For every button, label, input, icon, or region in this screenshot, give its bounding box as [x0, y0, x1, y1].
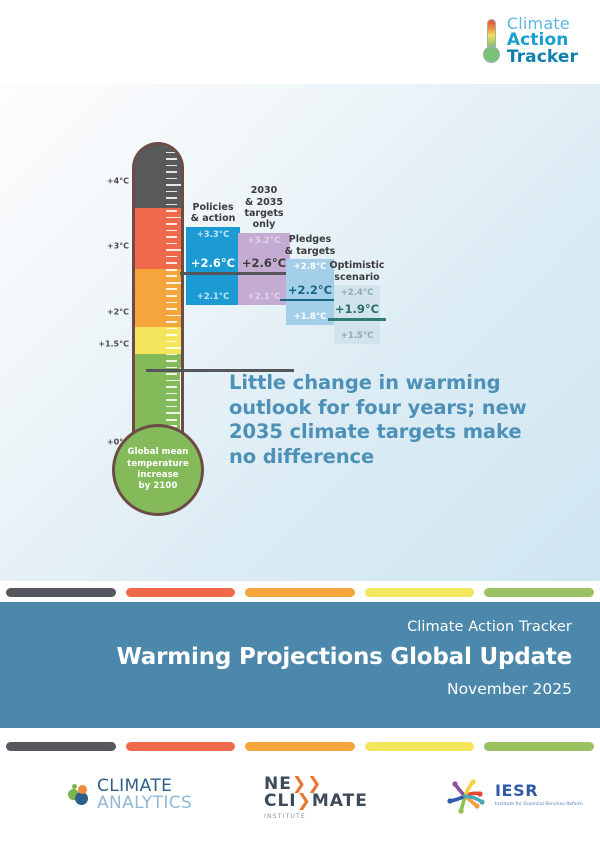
iesr-subtitle: Institute for Essential Services Reform [495, 802, 583, 809]
stripe-segment [6, 588, 116, 597]
stripe-segment [484, 588, 594, 597]
thermometer-bulb: Global meantemperatureincreaseby 2100 [112, 424, 204, 516]
bulb-label: Global meantemperatureincreaseby 2100 [127, 447, 189, 492]
scale-ticks [166, 149, 184, 441]
headline-text: Little change in warming outlook for fou… [229, 371, 549, 469]
newclimate-line-2: CLI❯MATE [264, 793, 368, 810]
stripe-segment [245, 742, 355, 751]
color-stripe-top [0, 588, 600, 597]
bar-caption: Policies& action [191, 202, 236, 224]
hero-panel: +4°C+3°C+2°C+1.5°C+0°C Global meantemper… [0, 84, 600, 581]
bar-caption: Pledges& targets [285, 234, 336, 256]
banner-date: November 2025 [0, 680, 572, 698]
bar-best-estimate-label: +1.9°C [328, 302, 386, 316]
climate-action-tracker-logo: Climate Action Tracker [483, 16, 578, 66]
iesr-logo: IESR Institute for Essential Services Re… [443, 776, 583, 816]
newclimate-institute-logo: NE❯❯ CLI❯MATE INSTITUTE [264, 776, 368, 820]
banner-kicker: Climate Action Tracker [0, 619, 572, 635]
thermometer-graphic: +4°C+3°C+2°C+1.5°C+0°C Global meantemper… [104, 142, 212, 522]
bar-best-estimate-label: +2.2°C [280, 283, 340, 297]
scale-label: +2°C [107, 307, 129, 316]
globe-icon [68, 784, 91, 807]
stripe-segment [484, 742, 594, 751]
stripe-segment [126, 742, 236, 751]
scale-label: +3°C [107, 242, 129, 251]
projection-bar[interactable]: Optimisticscenario+2.4°C+1.5°C+1.9°C [334, 285, 380, 344]
bar-caption: 2030& 2035targetsonly [244, 185, 283, 230]
banner-title: Warming Projections Global Update [0, 644, 572, 670]
projection-bar[interactable]: Pledges& targets+2.8°C+1.8°C+2.2°C [286, 259, 334, 324]
bar-high-label: +3.2°C [238, 236, 290, 246]
bar-low-label: +1.8°C [286, 312, 334, 322]
stripe-segment [365, 588, 475, 597]
stripe-segment [6, 742, 116, 751]
bar-high-label: +2.8°C [286, 262, 334, 272]
thermometer-icon [483, 19, 500, 63]
bar-best-estimate-line [328, 318, 386, 321]
iesr-name: IESR [495, 783, 583, 799]
burst-icon [443, 776, 487, 816]
stripe-segment [365, 742, 475, 751]
thermometer-tube [132, 142, 184, 442]
scale-label: +4°C [107, 177, 129, 186]
climate-analytics-logo: CLIMATE ANALYTICS [68, 778, 192, 812]
bar-low-label: +1.5°C [334, 331, 380, 341]
top-logo-strip: Climate Action Tracker [0, 0, 600, 84]
bar-best-estimate-line [280, 299, 340, 302]
stripe-segment [245, 588, 355, 597]
logo-line-3: Tracker [507, 49, 578, 66]
bar-high-label: +2.4°C [334, 288, 380, 298]
bar-low-label: +2.1°C [186, 292, 240, 302]
bar-high-label: +3.3°C [186, 230, 240, 240]
color-stripe-bottom [0, 742, 600, 751]
title-banner: Climate Action Tracker Warming Projectio… [0, 602, 600, 728]
climate-analytics-line-2: ANALYTICS [97, 795, 192, 812]
bar-caption: Optimisticscenario [330, 260, 385, 282]
footer-logos: CLIMATE ANALYTICS NE❯❯ CLI❯MATE INSTITUT… [0, 758, 600, 848]
stripe-segment [126, 588, 236, 597]
temperature-scale: +4°C+3°C+2°C+1.5°C+0°C [104, 142, 132, 442]
scale-label: +1.5°C [98, 340, 129, 349]
newclimate-line-3: INSTITUTE [264, 814, 368, 820]
infographic-page: Climate Action Tracker +4°C+3°C+2°C+1.5°… [0, 0, 600, 848]
